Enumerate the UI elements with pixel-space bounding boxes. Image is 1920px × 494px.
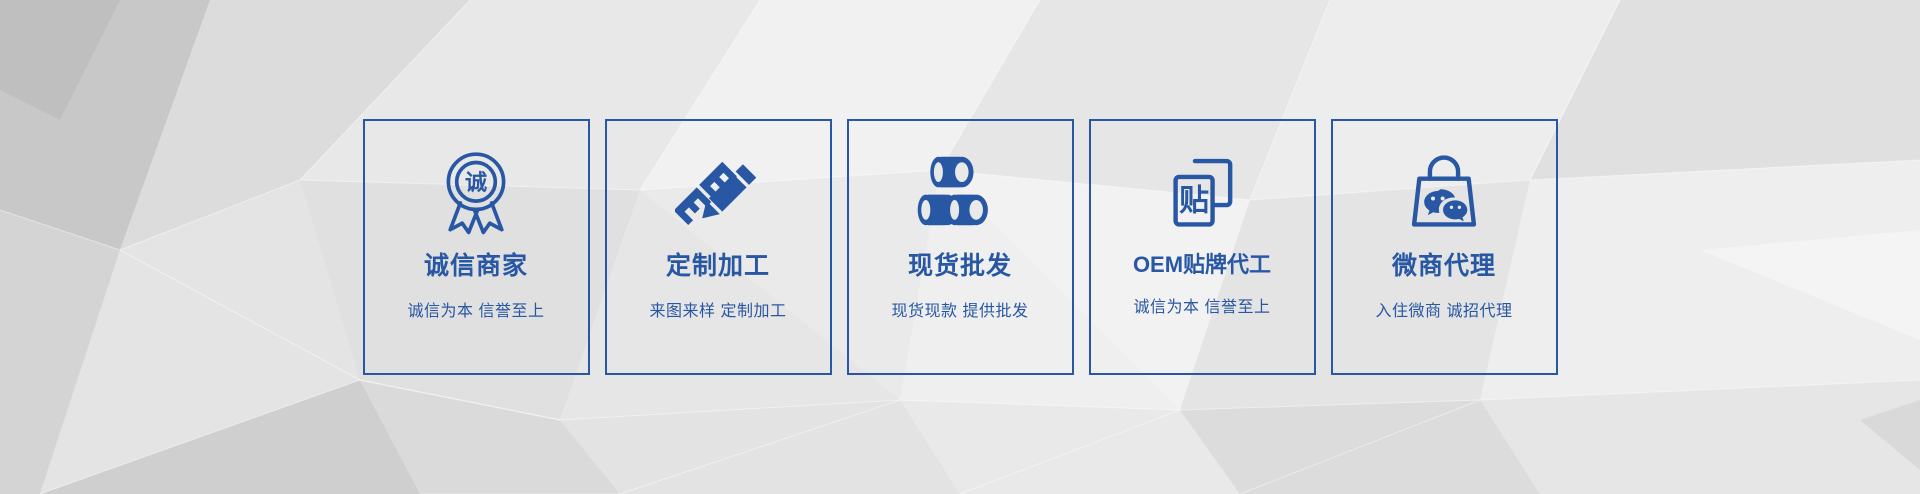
card-title: 诚信商家 bbox=[424, 253, 528, 281]
pencil-ruler-icon bbox=[670, 143, 766, 239]
card-title: 微商代理 bbox=[1392, 253, 1496, 281]
medal-badge-glyph: 诚 bbox=[465, 170, 487, 195]
feature-card-trusted-merchant[interactable]: 诚 诚信商家 诚信为本 信誉至上 bbox=[363, 119, 590, 375]
card-subtitle: 诚信为本 信誉至上 bbox=[1134, 293, 1271, 317]
feature-card-oem[interactable]: 贴 OEM贴牌代工 诚信为本 信誉至上 bbox=[1089, 119, 1316, 375]
phone-label-icon: 贴 bbox=[1154, 143, 1250, 239]
wechat-bag-icon bbox=[1396, 143, 1492, 239]
card-subtitle: 现货现款 提供批发 bbox=[892, 297, 1029, 321]
feature-card-stock-wholesale[interactable]: 现货批发 现货现款 提供批发 bbox=[847, 119, 1074, 375]
feature-card-list: 诚 诚信商家 诚信为本 信誉至上 bbox=[0, 0, 1920, 494]
promo-banner: 诚 诚信商家 诚信为本 信誉至上 bbox=[0, 0, 1920, 494]
wechat-bubbles-icon bbox=[1424, 189, 1467, 221]
stacked-rolls-icon bbox=[912, 143, 1008, 239]
feature-card-custom-processing[interactable]: 定制加工 来图来样 定制加工 bbox=[605, 119, 832, 375]
card-subtitle: 诚信为本 信誉至上 bbox=[408, 297, 545, 321]
card-subtitle: 来图来样 定制加工 bbox=[650, 297, 787, 321]
medal-badge-icon: 诚 bbox=[428, 143, 524, 239]
feature-card-wechat-agent[interactable]: 微商代理 入住微商 诚招代理 bbox=[1331, 119, 1558, 375]
card-title: 定制加工 bbox=[666, 253, 770, 281]
card-title: OEM贴牌代工 bbox=[1133, 253, 1271, 277]
card-subtitle: 入住微商 诚招代理 bbox=[1376, 297, 1513, 321]
phone-label-glyph: 贴 bbox=[1179, 184, 1209, 217]
card-title: 现货批发 bbox=[908, 253, 1012, 281]
